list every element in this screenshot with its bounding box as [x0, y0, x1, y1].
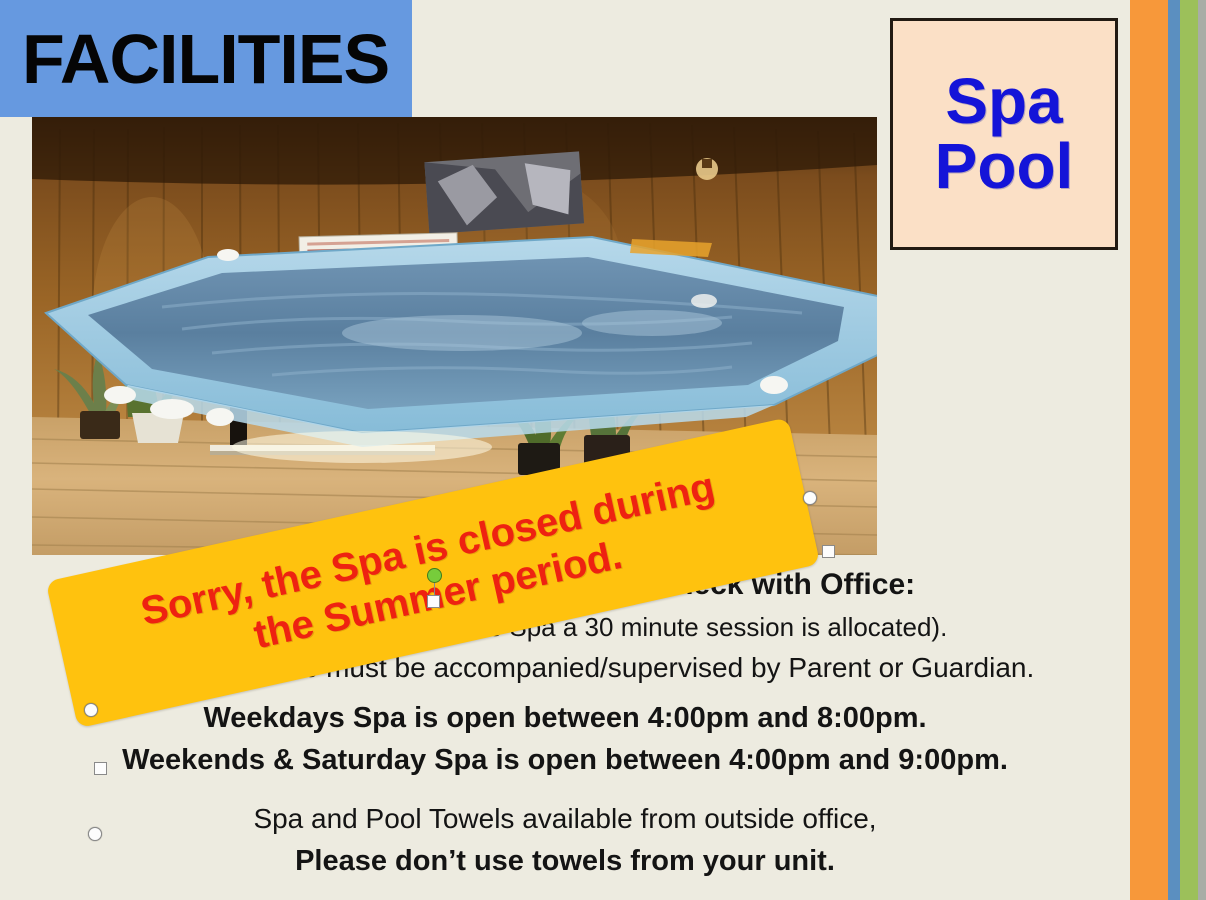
selection-handle-bottom-left[interactable]	[88, 827, 102, 841]
body-line-6: Spa and Pool Towels available from outsi…	[0, 805, 1130, 833]
slide-canvas: FACILITIES Spa Pool	[0, 0, 1130, 900]
selection-handle-top-right[interactable]	[803, 491, 817, 505]
selection-handle-top-left[interactable]	[84, 703, 98, 717]
rotation-handle[interactable]	[427, 568, 442, 583]
rotation-handle-stem	[434, 583, 435, 595]
title-banner: FACILITIES	[0, 0, 412, 117]
body-text-block: For available Spa times please check wit…	[0, 560, 1130, 900]
selection-handle-top-mid[interactable]	[427, 595, 440, 608]
body-line-5: Weekends & Saturday Spa is open between …	[0, 746, 1130, 775]
edge-stripe-green	[1180, 0, 1198, 900]
selection-handle-right-mid[interactable]	[822, 545, 835, 558]
spa-pool-line-1: Spa	[945, 69, 1062, 134]
spa-pool-line-2: Pool	[935, 134, 1074, 199]
edge-stripe-blue	[1168, 0, 1180, 900]
edge-stripes	[1130, 0, 1206, 900]
edge-stripe-gray	[1198, 0, 1206, 900]
body-line-7: Please don’t use towels from your unit.	[0, 847, 1130, 876]
page-title: FACILITIES	[0, 24, 389, 94]
spa-pool-photo[interactable]	[32, 117, 877, 555]
body-line-3: Children under 16 must be accompanied/su…	[0, 654, 1130, 682]
spa-pool-label-box: Spa Pool	[890, 18, 1118, 250]
edge-stripe-orange	[1130, 0, 1168, 900]
body-line-4: Weekdays Spa is open between 4:00pm and …	[0, 704, 1130, 733]
body-line-2: (note due to demand on the Spa a 30 minu…	[0, 614, 1130, 640]
selection-handle-left-mid[interactable]	[94, 762, 107, 775]
body-line-1: For available Spa times please check wit…	[0, 570, 1130, 600]
